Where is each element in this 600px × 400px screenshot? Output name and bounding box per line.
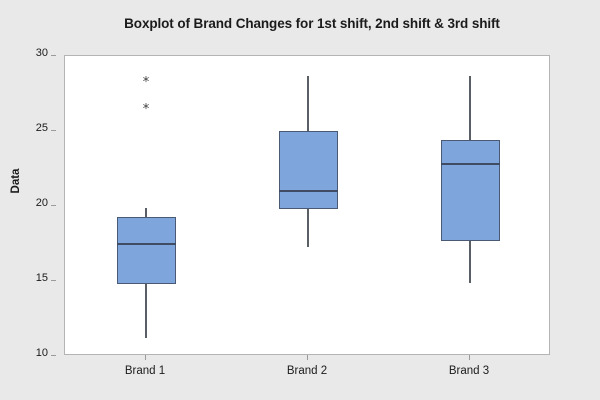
chart-title: Boxplot of Brand Changes for 1st shift, … — [62, 16, 562, 31]
y-tick-label: 10 — [36, 347, 48, 359]
plot-inner: ** — [65, 56, 549, 354]
x-tick-label: Brand 2 — [247, 365, 367, 377]
x-tick-mark — [307, 355, 308, 360]
whisker-lower — [307, 209, 309, 247]
x-tick-mark — [145, 355, 146, 360]
box-iqr — [441, 140, 500, 241]
y-tick-label: 15 — [36, 272, 48, 284]
outlier-marker: * — [140, 76, 152, 89]
y-axis-title: Data — [10, 151, 22, 211]
whisker-lower — [469, 241, 471, 283]
whisker-upper — [469, 76, 471, 141]
median-line — [279, 190, 338, 192]
x-tick-mark — [469, 355, 470, 360]
median-line — [117, 243, 176, 245]
y-tick-mark — [51, 355, 56, 356]
box-iqr — [117, 217, 176, 285]
box-iqr — [279, 131, 338, 209]
median-line — [441, 163, 500, 165]
plot-area: ** — [64, 55, 550, 355]
y-tick-label: 25 — [36, 122, 48, 134]
y-tick-mark — [51, 55, 56, 56]
y-tick-mark — [51, 280, 56, 281]
boxplot-figure: Boxplot of Brand Changes for 1st shift, … — [0, 0, 600, 400]
x-tick-label: Brand 3 — [409, 365, 529, 377]
whisker-lower — [145, 284, 147, 338]
y-tick-label: 30 — [36, 47, 48, 59]
whisker-upper — [307, 76, 309, 132]
y-tick-mark — [51, 130, 56, 131]
outlier-marker: * — [140, 103, 152, 116]
y-tick-mark — [51, 205, 56, 206]
x-tick-label: Brand 1 — [85, 365, 205, 377]
whisker-upper — [145, 208, 147, 217]
y-tick-label: 20 — [36, 197, 48, 209]
